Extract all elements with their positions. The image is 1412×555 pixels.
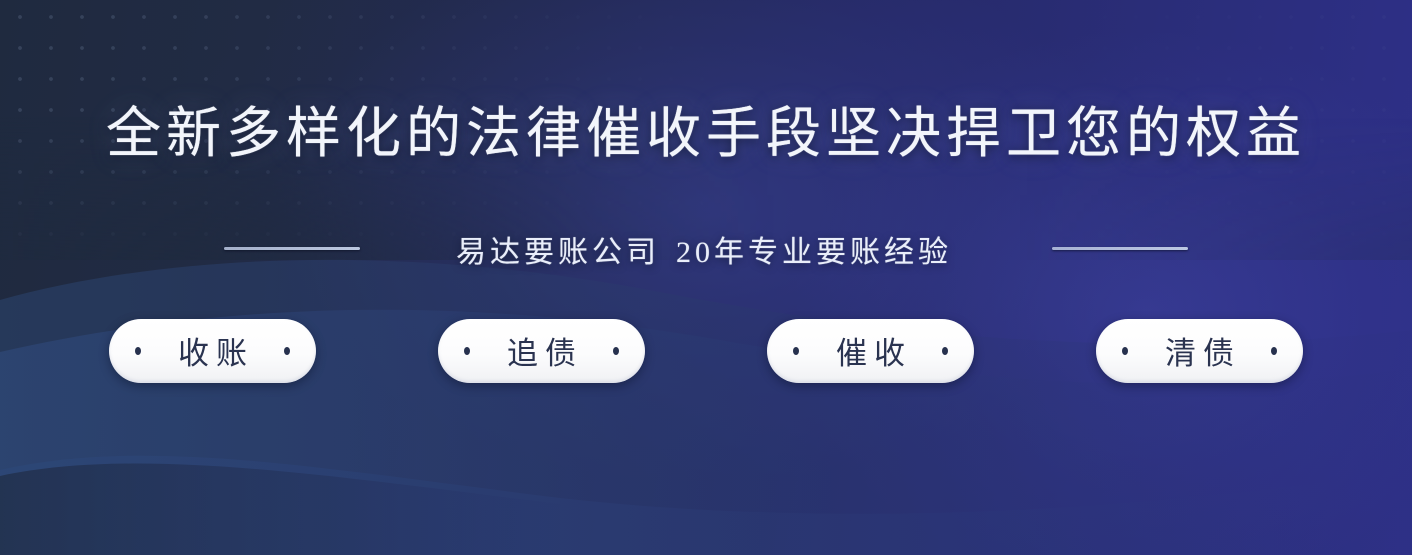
service-pill-zhuizhai[interactable]: 追债 (438, 319, 645, 383)
divider-line-left (224, 247, 360, 250)
page-title: 全新多样化的法律催收手段坚决捍卫您的权益 (106, 104, 1306, 165)
bullet-dot-icon (464, 347, 470, 355)
subtitle-company: 易达要账公司 (456, 236, 660, 269)
bullet-dot-icon (135, 347, 141, 355)
subtitle-experience: 20年专业要账经验 (676, 236, 952, 269)
service-pill-cuishou[interactable]: 催收 (767, 319, 974, 383)
banner-content: 全新多样化的法律催收手段坚决捍卫您的权益 易达要账公司20年专业要账经验 收账 … (0, 0, 1412, 555)
service-pill-label: 收账 (171, 328, 254, 373)
bullet-dot-icon (284, 347, 290, 355)
service-pill-row: 收账 追债 催收 清债 (109, 319, 1303, 383)
bullet-dot-icon (942, 347, 948, 355)
divider-line-right (1052, 247, 1188, 250)
subtitle-row: 易达要账公司20年专业要账经验 (0, 227, 1412, 271)
service-pill-label: 清债 (1158, 328, 1241, 373)
service-pill-label: 追债 (500, 328, 583, 373)
service-pill-qingzhai[interactable]: 清债 (1096, 319, 1303, 383)
service-pill-shouzhang[interactable]: 收账 (109, 319, 316, 383)
promo-banner: 全新多样化的法律催收手段坚决捍卫您的权益 易达要账公司20年专业要账经验 收账 … (0, 0, 1412, 555)
bullet-dot-icon (1122, 347, 1128, 355)
bullet-dot-icon (613, 347, 619, 355)
bullet-dot-icon (793, 347, 799, 355)
bullet-dot-icon (1271, 347, 1277, 355)
subtitle: 易达要账公司20年专业要账经验 (456, 227, 952, 271)
service-pill-label: 催收 (829, 328, 912, 373)
